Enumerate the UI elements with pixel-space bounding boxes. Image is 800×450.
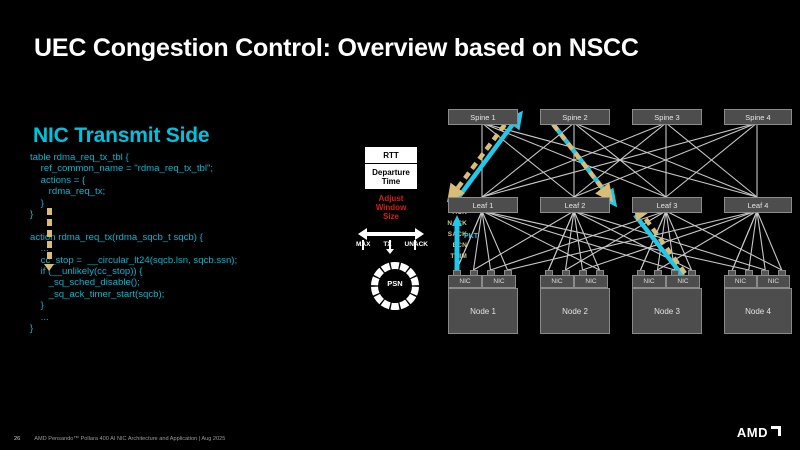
amd-wordmark: AMD — [737, 425, 768, 440]
nic-right[interactable]: NIC — [666, 275, 700, 288]
amd-logo: AMD — [737, 425, 782, 440]
psn-wheel: PSN — [369, 260, 421, 312]
ack-direction-arrow-icon — [44, 264, 54, 271]
switch-spine-4[interactable]: Spine 4 — [724, 109, 792, 125]
dash-segment — [47, 230, 52, 237]
rtt-box: RTT — [364, 146, 418, 164]
dash-segment — [47, 252, 52, 259]
dash-segment — [47, 241, 52, 248]
window-range-arrow — [358, 228, 424, 240]
node-label-4[interactable]: Node 4 — [724, 288, 792, 334]
switch-leaf-3[interactable]: Leaf 3 — [632, 197, 702, 213]
node-group-2: NIC NIC Node 2 — [540, 275, 608, 333]
node-group-3: NIC NIC Node 3 — [632, 275, 700, 333]
nic-row: NIC NIC — [632, 275, 700, 288]
node-label-1[interactable]: Node 1 — [448, 288, 518, 334]
nic-left[interactable]: NIC — [632, 275, 666, 288]
pkt-label: PKT — [464, 233, 478, 240]
code-block: table rdma_req_tx_tbl { ref_common_name … — [30, 152, 330, 335]
nic-left[interactable]: NIC — [724, 275, 757, 288]
switch-spine-2[interactable]: Spine 2 — [540, 109, 610, 125]
switch-leaf-1[interactable]: Leaf 1 — [448, 197, 518, 213]
switch-spine-1[interactable]: Spine 1 — [448, 109, 518, 125]
nic-right[interactable]: NIC — [574, 275, 608, 288]
nic-row: NIC NIC — [724, 275, 790, 288]
nic-left[interactable]: NIC — [448, 275, 482, 288]
nic-right[interactable]: NIC — [482, 275, 516, 288]
switch-leaf-4[interactable]: Leaf 4 — [724, 197, 792, 213]
page-title: UEC Congestion Control: Overview based o… — [34, 34, 639, 63]
switch-spine-3[interactable]: Spine 3 — [632, 109, 702, 125]
page-number: 26 — [14, 436, 20, 442]
marker-max: MAX — [356, 241, 370, 248]
marker-tx: TX — [383, 241, 391, 248]
node-label-3[interactable]: Node 3 — [632, 288, 702, 334]
footer: 26AMD Pensando™ Pollara 400 AI NIC Archi… — [14, 436, 225, 442]
dash-segment — [47, 219, 52, 226]
departure-time-box: Departure Time — [364, 163, 418, 190]
adjust-window-size-label: Adjust Window Size — [360, 194, 422, 221]
footer-text: AMD Pensando™ Pollara 400 AI NIC Archite… — [34, 436, 225, 442]
psn-label: PSN — [369, 279, 421, 288]
network-topology: Spine 1 Spine 2 Spine 3 Spine 4 Leaf 1 L… — [440, 105, 790, 345]
node-group-1: NIC NIC Node 1 — [448, 275, 516, 333]
ack-path-down-left — [454, 115, 512, 193]
section-heading: NIC Transmit Side — [33, 124, 209, 148]
nic-left[interactable]: NIC — [540, 275, 574, 288]
switch-leaf-2[interactable]: Leaf 2 — [540, 197, 610, 213]
dash-segment — [47, 208, 52, 215]
node-label-2[interactable]: Node 2 — [540, 288, 610, 334]
amd-arrow-icon — [770, 425, 782, 440]
nic-row: NIC NIC — [448, 275, 516, 288]
arrow-bar — [366, 232, 416, 236]
departure-time-label: Departure Time — [372, 168, 410, 186]
tx-pointer-icon — [386, 249, 394, 254]
node-group-4: NIC NIC Node 4 — [724, 275, 790, 333]
nic-right[interactable]: NIC — [757, 275, 790, 288]
slide-root: UEC Congestion Control: Overview based o… — [0, 0, 800, 450]
nic-row: NIC NIC — [540, 275, 608, 288]
